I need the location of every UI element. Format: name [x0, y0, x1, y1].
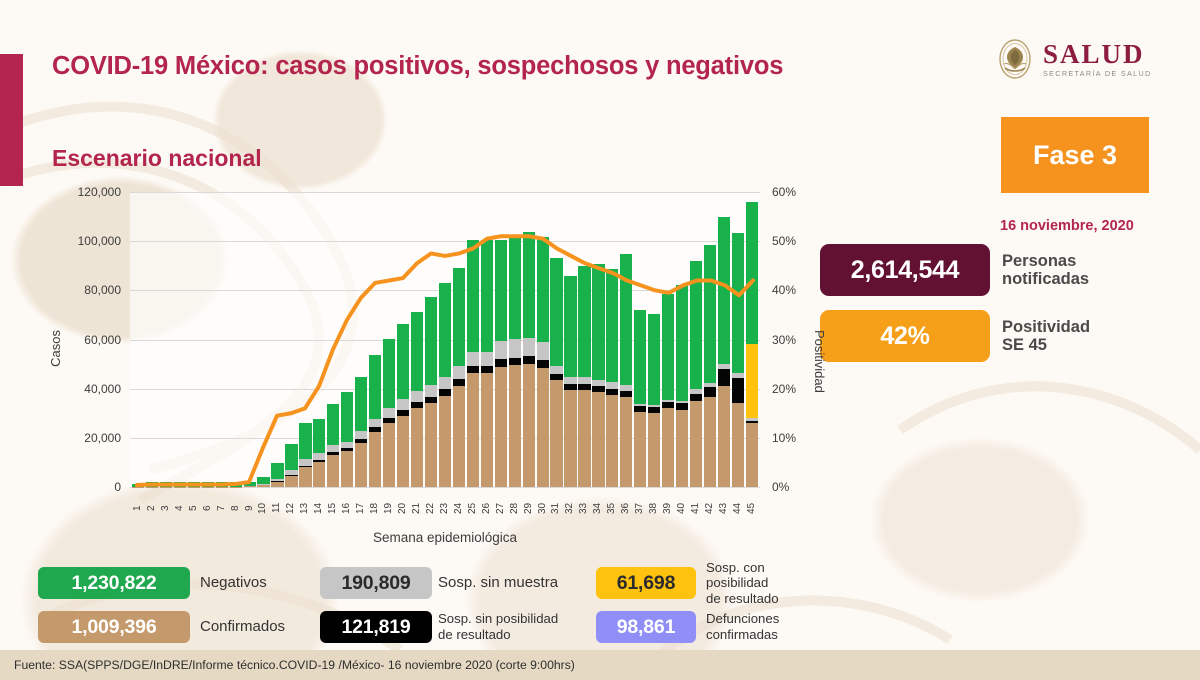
bar-segment-sosp_sin_muestra — [355, 431, 367, 439]
legend-value: 98,861 — [617, 616, 675, 639]
legend-value: 121,819 — [341, 616, 410, 639]
bar-segment-negativos — [425, 297, 437, 386]
x-tick-label: 26 — [481, 490, 493, 526]
bar-week-38 — [648, 314, 660, 487]
bar-segment-confirmados — [425, 403, 437, 487]
bar-segment-negativos — [355, 377, 367, 431]
bar-segment-negativos — [718, 217, 730, 365]
bar-segment-sosp_sin_posibilidad — [718, 369, 730, 386]
bar-week-16 — [341, 392, 353, 487]
y-tick-label: 60,000 — [84, 333, 121, 347]
bar-week-26 — [481, 240, 493, 487]
bar-segment-negativos — [411, 312, 423, 391]
x-tick-label: 19 — [383, 490, 395, 526]
x-tick-label: 20 — [397, 490, 409, 526]
legend-swatch-confirmados: 1,009,396 — [38, 611, 190, 643]
bar-segment-negativos — [467, 240, 479, 352]
x-tick-label: 1 — [132, 490, 144, 526]
bar-segment-negativos — [439, 283, 451, 376]
x-tick-label: 2 — [146, 490, 158, 526]
x-tick-label: 39 — [662, 490, 674, 526]
bar-segment-sosp_sin_muestra — [467, 352, 479, 366]
plot-area: 020,00040,00060,00080,000100,000120,000 … — [130, 192, 760, 487]
bar-segment-confirmados — [453, 386, 465, 487]
bar-segment-sosp_sin_posibilidad — [495, 359, 507, 366]
bar-segment-confirmados — [690, 401, 702, 487]
bar-week-21 — [411, 312, 423, 487]
bar-segment-confirmados — [397, 416, 409, 487]
legend-swatch-negativos: 1,230,822 — [38, 567, 190, 599]
bar-segment-negativos — [564, 276, 576, 377]
bar-week-25 — [467, 240, 479, 487]
logo-subtitle: SECRETARÍA DE SALUD — [1043, 70, 1152, 77]
bar-week-14 — [313, 419, 325, 487]
bar-week-13 — [299, 423, 311, 487]
bar-segment-confirmados — [355, 443, 367, 487]
stat-value-badge: 42% — [820, 310, 990, 362]
bar-segment-sosp_sin_muestra — [411, 391, 423, 403]
x-axis-ticks: 1234567891011121314151617181920212223242… — [130, 490, 760, 526]
y2-tick-label: 10% — [772, 431, 796, 445]
stat-personas-notificadas: 2,614,544 Personas notificadas — [820, 244, 1089, 296]
bar-segment-confirmados — [662, 408, 674, 487]
bar-segment-confirmados — [732, 403, 744, 487]
x-tick-label: 37 — [634, 490, 646, 526]
section-title: Escenario nacional — [52, 145, 262, 172]
y-tick-label: 100,000 — [78, 234, 121, 248]
bar-segment-sosp_sin_posibilidad — [453, 379, 465, 386]
bar-segment-confirmados — [481, 373, 493, 487]
bar-segment-negativos — [369, 355, 381, 419]
bar-segment-negativos — [257, 477, 269, 484]
x-tick-label: 28 — [509, 490, 521, 526]
bar-segment-confirmados — [257, 485, 269, 487]
legend-label-defunciones: Defunciones confirmadas — [696, 611, 816, 642]
bar-week-35 — [606, 269, 618, 487]
bar-segment-sosp_sin_muestra — [397, 399, 409, 410]
legend-swatch-sosp-sin-muestra: 190,809 — [320, 567, 432, 599]
bar-week-11 — [271, 463, 283, 487]
bar-week-9 — [244, 482, 256, 487]
bar-segment-sosp_sin_posibilidad — [690, 394, 702, 401]
x-tick-label: 7 — [216, 490, 228, 526]
bar-week-8 — [230, 482, 242, 487]
bar-segment-negativos — [662, 294, 674, 400]
bar-segment-sosp_sin_posibilidad — [509, 358, 521, 366]
stat-value: 42% — [880, 322, 929, 351]
bar-segment-sosp_sin_muestra — [299, 459, 311, 466]
bar-week-1 — [132, 484, 144, 487]
bar-segment-confirmados — [509, 365, 521, 487]
bar-week-34 — [592, 264, 604, 487]
bar-segment-confirmados — [578, 390, 590, 487]
x-tick-label: 41 — [690, 490, 702, 526]
bar-segment-confirmados — [592, 392, 604, 487]
bar-week-23 — [439, 283, 451, 487]
x-tick-label: 40 — [676, 490, 688, 526]
x-tick-label: 11 — [271, 490, 283, 526]
bar-week-27 — [495, 240, 507, 487]
legend-swatch-sosp-sin-posibilidad: 121,819 — [320, 611, 432, 643]
bar-segment-negativos — [634, 310, 646, 403]
bar-segment-confirmados — [327, 455, 339, 487]
bar-segment-confirmados — [495, 367, 507, 487]
bar-segment-sosp_sin_muestra — [327, 445, 339, 452]
report-date: 16 noviembre, 2020 — [1000, 218, 1134, 234]
bar-week-10 — [257, 477, 269, 487]
x-axis-title: Semana epidemiológica — [130, 530, 760, 545]
bar-week-18 — [369, 355, 381, 487]
x-tick-label: 4 — [174, 490, 186, 526]
bar-week-42 — [704, 245, 716, 487]
x-tick-label: 15 — [327, 490, 339, 526]
bar-segment-negativos — [285, 444, 297, 470]
bar-segment-confirmados — [606, 395, 618, 487]
bar-week-32 — [564, 276, 576, 487]
stat-value: 2,614,544 — [851, 256, 960, 285]
bar-week-6 — [202, 482, 214, 487]
y2-tick-label: 30% — [772, 333, 796, 347]
footer-source-text: Fuente: SSA(SPPS/DGE/InDRE/Informe técni… — [0, 658, 575, 672]
stat-value-badge: 2,614,544 — [820, 244, 990, 296]
bar-segment-confirmados — [564, 390, 576, 487]
x-tick-label: 13 — [299, 490, 311, 526]
x-tick-label: 30 — [537, 490, 549, 526]
bar-segment-sosp_sin_muestra — [578, 377, 590, 384]
x-tick-label: 44 — [732, 490, 744, 526]
stat-label-line1: Personas — [1002, 252, 1089, 270]
bar-segment-confirmados — [634, 412, 646, 487]
bar-segment-negativos — [620, 254, 632, 384]
bar-week-40 — [676, 285, 688, 487]
bar-segment-confirmados — [676, 410, 688, 487]
x-tick-label: 36 — [620, 490, 632, 526]
bar-segment-negativos — [746, 202, 758, 345]
bar-segment-negativos — [592, 264, 604, 380]
bar-segment-confirmados — [285, 476, 297, 487]
bar-week-36 — [620, 254, 632, 487]
x-tick-label: 16 — [341, 490, 353, 526]
bar-segment-confirmados — [341, 451, 353, 487]
legend-value: 1,230,822 — [72, 572, 157, 595]
bar-segment-negativos — [299, 423, 311, 459]
bar-group — [130, 192, 760, 487]
bar-segment-negativos — [327, 404, 339, 445]
bar-week-20 — [397, 324, 409, 487]
bar-week-37 — [634, 310, 646, 487]
x-tick-label: 8 — [230, 490, 242, 526]
x-tick-label: 42 — [704, 490, 716, 526]
bar-week-28 — [509, 236, 521, 487]
bar-week-5 — [188, 482, 200, 487]
bar-segment-negativos — [313, 419, 325, 453]
y2-tick-label: 50% — [772, 234, 796, 248]
bar-segment-negativos — [537, 237, 549, 343]
legend-swatch-defunciones: 98,861 — [596, 611, 696, 643]
x-tick-label: 21 — [411, 490, 423, 526]
bar-segment-negativos — [523, 232, 535, 338]
gridline — [130, 487, 760, 488]
bar-segment-confirmados — [648, 413, 660, 487]
bar-segment-negativos — [550, 258, 562, 366]
legend-value: 61,698 — [617, 572, 675, 595]
bar-segment-negativos — [648, 314, 660, 405]
bar-segment-confirmados — [746, 423, 758, 487]
x-tick-label: 27 — [495, 490, 507, 526]
bar-segment-negativos — [271, 463, 283, 479]
x-tick-label: 6 — [202, 490, 214, 526]
y2-tick-label: 40% — [772, 283, 796, 297]
y2-tick-label: 20% — [772, 382, 796, 396]
stat-label: Positividad SE 45 — [1002, 318, 1090, 355]
y-tick-label: 120,000 — [78, 185, 121, 199]
bar-segment-negativos — [453, 268, 465, 366]
x-tick-label: 35 — [606, 490, 618, 526]
stat-label: Personas notificadas — [1002, 252, 1089, 289]
x-tick-label: 3 — [160, 490, 172, 526]
bar-segment-sosp_sin_muestra — [425, 385, 437, 397]
legend-label-sosp-sin-muestra: Sosp. sin muestra — [428, 574, 596, 592]
x-tick-label: 31 — [550, 490, 562, 526]
bar-segment-sosp_sin_muestra — [564, 377, 576, 384]
bar-segment-negativos — [341, 392, 353, 441]
bar-segment-sosp_sin_muestra — [453, 366, 465, 379]
bar-segment-sosp_con_posibilidad — [746, 344, 758, 418]
legend-value: 1,009,396 — [72, 616, 157, 639]
x-tick-label: 25 — [467, 490, 479, 526]
x-tick-label: 38 — [648, 490, 660, 526]
y-tick-label: 20,000 — [84, 431, 121, 445]
bar-week-12 — [285, 444, 297, 487]
x-tick-label: 12 — [285, 490, 297, 526]
x-tick-label: 33 — [578, 490, 590, 526]
y-tick-label: 80,000 — [84, 283, 121, 297]
x-tick-label: 32 — [564, 490, 576, 526]
bar-segment-negativos — [397, 324, 409, 399]
bar-segment-confirmados — [523, 364, 535, 487]
y2-tick-label: 60% — [772, 185, 796, 199]
stat-label-line1: Positividad — [1002, 318, 1090, 336]
bar-segment-sosp_sin_posibilidad — [537, 360, 549, 368]
y-axis-title: Casos — [48, 330, 63, 367]
y-tick-label: 0 — [114, 480, 121, 494]
legend-label-sosp-sin-posibilidad: Sosp. sin posibilidad de resultado — [428, 611, 596, 642]
bar-segment-negativos — [606, 269, 618, 382]
x-tick-label: 10 — [257, 490, 269, 526]
logo-wordmark: SALUD — [1043, 41, 1152, 68]
bar-segment-sosp_sin_muestra — [383, 408, 395, 418]
bar-segment-confirmados — [718, 386, 730, 487]
bar-segment-sosp_sin_posibilidad — [523, 356, 535, 364]
bar-segment-sosp_sin_posibilidad — [704, 387, 716, 397]
y-tick-label: 40,000 — [84, 382, 121, 396]
bar-segment-negativos — [495, 240, 507, 341]
bar-segment-sosp_sin_muestra — [481, 352, 493, 366]
x-tick-label: 24 — [453, 490, 465, 526]
bar-segment-confirmados — [704, 397, 716, 487]
bar-segment-sosp_sin_muestra — [369, 419, 381, 427]
bar-segment-sosp_sin_muestra — [606, 382, 618, 389]
mexico-coat-of-arms-icon — [995, 38, 1035, 80]
title-accent-bar — [0, 54, 23, 186]
y2-axis-title: Positividad — [812, 330, 827, 393]
bar-segment-confirmados — [271, 482, 283, 487]
slide-root: COVID-19 México: casos positivos, sospec… — [0, 0, 1200, 680]
legend: 1,230,822 Negativos 190,809 Sosp. sin mu… — [38, 566, 838, 644]
y2-tick-label: 0% — [772, 480, 789, 494]
bar-week-19 — [383, 339, 395, 487]
bar-segment-sosp_sin_posibilidad — [467, 366, 479, 373]
bar-segment-confirmados — [411, 408, 423, 487]
bar-week-4 — [174, 482, 186, 487]
legend-label-confirmados: Confirmados — [190, 618, 320, 636]
bar-week-29 — [523, 232, 535, 487]
bar-week-24 — [453, 268, 465, 487]
bar-week-44 — [732, 233, 744, 487]
bar-segment-negativos — [509, 236, 521, 339]
bar-week-7 — [216, 482, 228, 487]
x-tick-label: 45 — [746, 490, 758, 526]
phase-badge: Fase 3 — [1001, 117, 1149, 193]
bar-segment-sosp_sin_muestra — [523, 338, 535, 356]
covid-stacked-bar-chart: Casos Positividad 020,00040,00060,00080,… — [30, 180, 830, 540]
bar-segment-negativos — [690, 261, 702, 389]
bar-week-43 — [718, 217, 730, 487]
bar-segment-confirmados — [537, 368, 549, 487]
bar-segment-confirmados — [313, 462, 325, 487]
x-tick-label: 43 — [718, 490, 730, 526]
bar-segment-confirmados — [439, 396, 451, 487]
x-tick-label: 14 — [313, 490, 325, 526]
stat-positividad: 42% Positividad SE 45 — [820, 310, 1090, 362]
legend-label-sosp-con-posibilidad: Sosp. con posibilidad de resultado — [696, 560, 816, 607]
bar-segment-negativos — [676, 285, 688, 401]
x-tick-label: 34 — [592, 490, 604, 526]
bar-segment-sosp_sin_muestra — [313, 453, 325, 460]
bar-segment-confirmados — [467, 373, 479, 487]
legend-value: 190,809 — [341, 572, 410, 595]
bar-segment-negativos — [383, 339, 395, 408]
bar-week-33 — [578, 266, 590, 487]
bar-week-31 — [550, 258, 562, 487]
bar-segment-negativos — [481, 240, 493, 352]
bar-segment-sosp_sin_muestra — [550, 366, 562, 373]
stat-label-line2: notificadas — [1002, 270, 1089, 288]
bar-week-39 — [662, 294, 674, 487]
bar-week-45 — [746, 202, 758, 487]
x-tick-label: 22 — [425, 490, 437, 526]
bar-week-41 — [690, 261, 702, 487]
bar-week-2 — [146, 482, 158, 487]
bar-segment-confirmados — [550, 380, 562, 487]
bar-segment-confirmados — [244, 486, 256, 487]
bar-segment-confirmados — [383, 423, 395, 487]
x-tick-label: 29 — [523, 490, 535, 526]
bar-segment-sosp_sin_muestra — [509, 339, 521, 357]
bar-segment-sosp_sin_muestra — [592, 380, 604, 387]
bar-segment-sosp_sin_muestra — [495, 341, 507, 359]
bar-segment-confirmados — [620, 397, 632, 487]
bar-segment-sosp_sin_posibilidad — [481, 366, 493, 373]
legend-swatch-sosp-con-posibilidad: 61,698 — [596, 567, 696, 599]
bar-week-22 — [425, 297, 437, 487]
bar-segment-negativos — [732, 233, 744, 373]
bar-segment-negativos — [578, 266, 590, 377]
footer-bar: Fuente: SSA(SPPS/DGE/InDRE/Informe técni… — [0, 650, 1200, 680]
legend-label-negativos: Negativos — [190, 574, 320, 592]
x-tick-label: 23 — [439, 490, 451, 526]
bar-week-15 — [327, 404, 339, 487]
bar-week-3 — [160, 482, 172, 487]
bar-segment-confirmados — [369, 432, 381, 487]
x-tick-label: 18 — [369, 490, 381, 526]
page-title: COVID-19 México: casos positivos, sospec… — [52, 52, 783, 81]
salud-logo: SALUD SECRETARÍA DE SALUD — [995, 38, 1152, 80]
bar-segment-confirmados — [299, 467, 311, 487]
stat-label-line2: SE 45 — [1002, 336, 1090, 354]
bar-segment-sosp_sin_muestra — [439, 377, 451, 390]
bar-segment-sosp_sin_muestra — [537, 342, 549, 360]
x-tick-label: 5 — [188, 490, 200, 526]
bar-segment-sosp_sin_posibilidad — [732, 378, 744, 404]
bar-week-30 — [537, 237, 549, 487]
x-tick-label: 9 — [244, 490, 256, 526]
x-tick-label: 17 — [355, 490, 367, 526]
bar-segment-sosp_sin_posibilidad — [439, 389, 451, 396]
bar-segment-negativos — [704, 245, 716, 383]
phase-label: Fase 3 — [1033, 140, 1117, 171]
bar-week-17 — [355, 377, 367, 487]
